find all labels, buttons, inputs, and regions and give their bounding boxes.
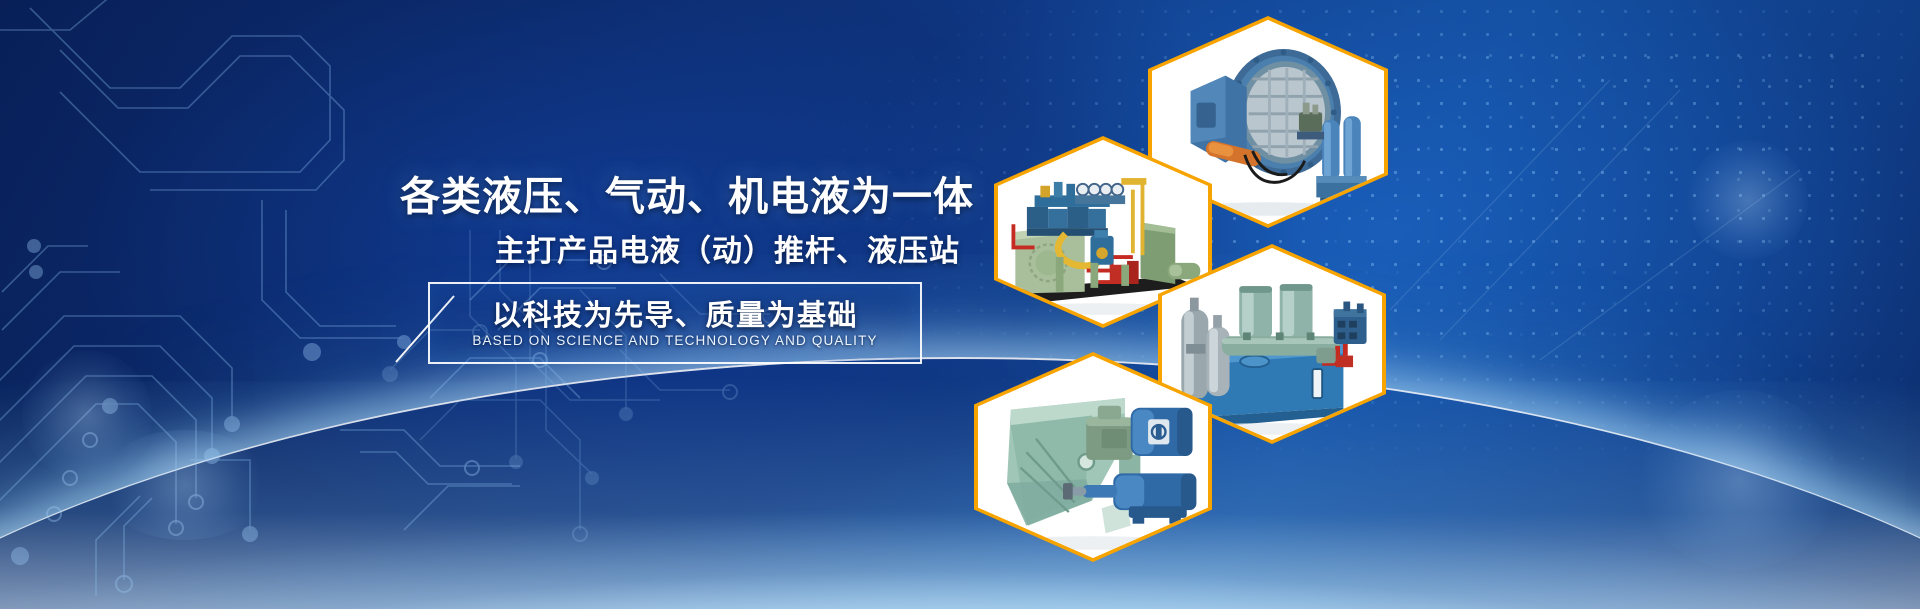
- slogan-chinese: 以科技为先导、质量为基础: [430, 292, 920, 334]
- slogan-english: BASED ON SCIENCE AND TECHNOLOGY AND QUAL…: [430, 333, 920, 348]
- banner-headline-line1: 各类液压、气动、机电液为一体: [400, 164, 960, 222]
- banner-text-block: 各类液压、气动、机电液为一体 主打产品电液（动）推杆、液压站 以科技为先导、质量…: [0, 0, 1920, 609]
- banner-headline-line2: 主打产品电液（动）推杆、液压站: [400, 226, 960, 270]
- hero-banner: 各类液压、气动、机电液为一体 主打产品电液（动）推杆、液压站 以科技为先导、质量…: [0, 0, 1920, 609]
- slogan-box: 以科技为先导、质量为基础 BASED ON SCIENCE AND TECHNO…: [428, 282, 922, 364]
